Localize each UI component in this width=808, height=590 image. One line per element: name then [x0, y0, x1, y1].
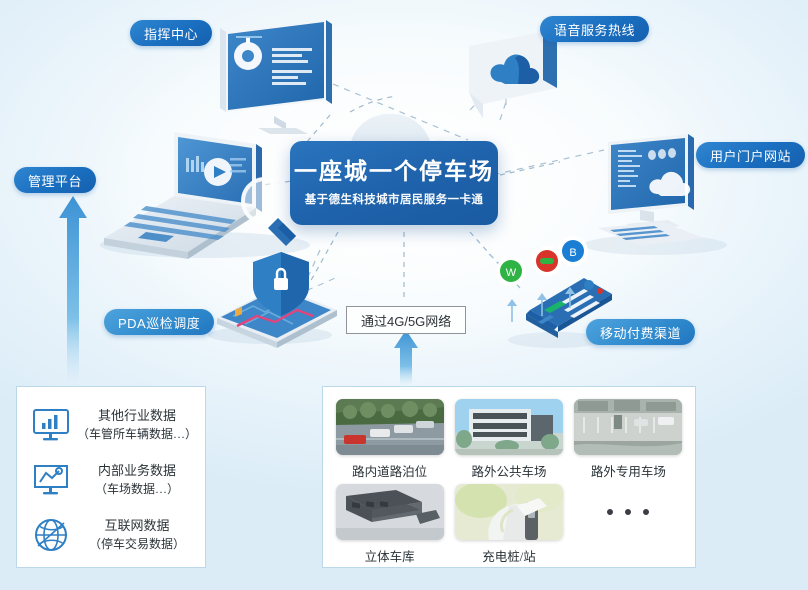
data-source-text: 内部业务数据 （车场数据…） [77, 462, 197, 498]
scene-caption: 路外专用车场 [591, 461, 666, 480]
scene-item-more [572, 484, 685, 565]
scene-caption: 立体车库 [365, 546, 415, 565]
data-source-title: 互联网数据 [77, 517, 197, 536]
page-title: 一座城一个停车场 [294, 159, 494, 184]
parking-scenes-panel: 路内道路泊位 [322, 386, 696, 568]
management-platform-arrow [58, 196, 88, 384]
scene-grid: 路内道路泊位 [333, 399, 685, 555]
dedicated-lot-thumb [574, 399, 682, 455]
label-network[interactable]: 通过4G/5G网络 [346, 306, 466, 334]
public-lot-building-thumb [455, 399, 563, 455]
data-source-text: 其他行业数据 （车管所车辆数据…） [77, 407, 197, 443]
data-source-title: 内部业务数据 [77, 462, 197, 481]
command-center-monitor [200, 12, 370, 142]
app-upload-arrows [498, 286, 578, 326]
label-voice-hotline[interactable]: 语音服务热线 [540, 16, 649, 42]
scene-caption: 充电桩/站 [482, 546, 535, 565]
label-user-portal[interactable]: 用户门户网站 [696, 142, 805, 168]
data-source-detail: （车管所车辆数据…） [77, 426, 197, 443]
scene-caption: 路内道路泊位 [352, 461, 427, 480]
data-source-row[interactable]: 互联网数据 （停车交易数据） [25, 508, 197, 562]
data-source-detail: （车场数据…） [77, 481, 197, 498]
ellipsis-icon [607, 484, 649, 540]
scene-item[interactable]: 路外专用车场 [572, 399, 685, 480]
scene-item[interactable]: 充电桩/站 [452, 484, 565, 565]
scene-item[interactable]: 路内道路泊位 [333, 399, 446, 480]
ev-charging-thumb [455, 484, 563, 540]
wechat-pay-icon: W [494, 254, 528, 288]
page-subtitle: 基于德生科技城市居民服务一卡通 [305, 191, 484, 207]
data-source-row[interactable]: 内部业务数据 （车场数据…） [25, 453, 197, 507]
multistorey-garage-thumb [336, 484, 444, 540]
scene-item[interactable]: 立体车库 [333, 484, 446, 565]
svg-text:B: B [569, 247, 576, 259]
label-mobile-payment[interactable]: 移动付费渠道 [586, 319, 695, 345]
bank-app-icon: B [556, 234, 590, 268]
scene-item[interactable]: 路外公共车场 [452, 399, 565, 480]
network-arrow [393, 330, 419, 386]
data-source-row[interactable]: 其他行业数据 （车管所车辆数据…） [25, 398, 197, 452]
data-source-text: 互联网数据 （停车交易数据） [77, 517, 197, 553]
infographic-canvas: W B 一座城一个停车场 基于德生科技城市居民服务一卡通 指挥中心 语音服务热线… [0, 0, 808, 590]
pda-tablet-shield [205, 250, 350, 350]
title-card: 一座城一个停车场 基于德生科技城市居民服务一卡通 [290, 141, 498, 225]
management-laptop [78, 128, 313, 263]
monitor-line-chart-icon [25, 462, 77, 498]
data-sources-panel: 其他行业数据 （车管所车辆数据…） 内部业务数据 （车场数据…） [16, 386, 206, 568]
label-command-center[interactable]: 指挥中心 [130, 20, 212, 46]
label-pda-patrol[interactable]: PDA巡检调度 [104, 309, 214, 335]
scene-caption: 路外公共车场 [471, 461, 546, 480]
data-source-title: 其他行业数据 [77, 407, 197, 426]
svg-text:W: W [506, 267, 517, 279]
monitor-bar-chart-icon [25, 407, 77, 443]
label-management-platform[interactable]: 管理平台 [14, 167, 96, 193]
street-parking-thumb [336, 399, 444, 455]
globe-network-icon [25, 516, 77, 554]
data-source-detail: （停车交易数据） [77, 536, 197, 553]
